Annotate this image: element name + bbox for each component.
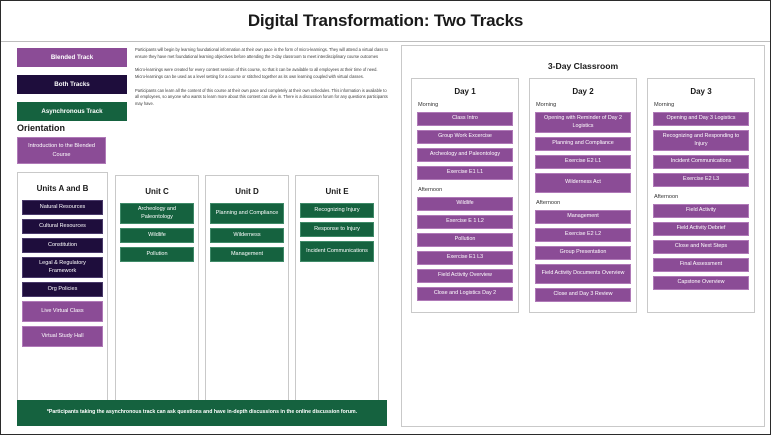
day-3-morning-items: Opening and Day 3 Logistics Recognizing … bbox=[648, 112, 754, 187]
unit-card-unit-e: Unit E Recognizing Injury Response to In… bbox=[295, 175, 379, 422]
unit-item[interactable]: Cultural Resources bbox=[22, 219, 103, 234]
day-2-morning-items: Opening with Reminder of Day 2 Logistics… bbox=[530, 112, 636, 193]
unit-item[interactable]: Recognizing Injury bbox=[300, 203, 374, 218]
session-item[interactable]: Wilderness Act bbox=[535, 173, 631, 193]
legend-chip-blended-track: Blended Track bbox=[17, 48, 127, 67]
orientation-heading: Orientation bbox=[17, 123, 65, 133]
legend-chip-asynchronous-track: Asynchronous Track bbox=[17, 102, 127, 121]
unit-item[interactable]: Constitution bbox=[22, 238, 103, 253]
session-item[interactable]: Recognizing and Responding to Injury bbox=[653, 130, 749, 151]
session-item[interactable]: Exercise E2 L2 bbox=[535, 228, 631, 242]
session-item[interactable]: Field Activity bbox=[653, 204, 749, 218]
unit-items: Recognizing Injury Response to Injury In… bbox=[296, 203, 378, 262]
unit-items: Natural Resources Cultural Resources Con… bbox=[18, 200, 107, 347]
unit-item[interactable]: Incident Communications bbox=[300, 241, 374, 262]
unit-item[interactable]: Response to Injury bbox=[300, 222, 374, 237]
unit-item[interactable]: Live Virtual Class bbox=[22, 301, 103, 322]
day-card-day-3: Day 3 Morning Opening and Day 3 Logistic… bbox=[647, 78, 755, 313]
unit-item[interactable]: Pollution bbox=[120, 247, 194, 262]
session-item[interactable]: Exercise E 1 L2 bbox=[417, 215, 513, 229]
day-title: Day 2 bbox=[530, 87, 636, 96]
session-label-morning: Morning bbox=[654, 102, 754, 108]
unit-item[interactable]: Virtual Study Hall bbox=[22, 326, 103, 347]
session-item[interactable]: Archeology and Paleontology bbox=[417, 148, 513, 162]
session-item[interactable]: Capstone Overview bbox=[653, 276, 749, 290]
classroom-heading: 3-Day Classroom bbox=[402, 61, 764, 71]
day-title: Day 3 bbox=[648, 87, 754, 96]
session-item[interactable]: Exercise E1 L3 bbox=[417, 251, 513, 265]
session-item[interactable]: Group Presentation bbox=[535, 246, 631, 260]
unit-item[interactable]: Wilderness bbox=[210, 228, 284, 243]
session-item[interactable]: Field Activity Debrief bbox=[653, 222, 749, 236]
session-item[interactable]: Close and Day 3 Review bbox=[535, 288, 631, 302]
title-bar: Digital Transformation: Two Tracks bbox=[1, 1, 770, 42]
session-label-afternoon: Afternoon bbox=[536, 200, 636, 206]
three-day-classroom-pane: 3-Day Classroom Day 1 Morning Class Intr… bbox=[401, 45, 765, 427]
orientation-item-introduction[interactable]: Introduction to the Blended Course bbox=[17, 137, 106, 164]
self-paced-pane: Blended Track Both Tracks Asynchronous T… bbox=[9, 45, 393, 427]
session-label-morning: Morning bbox=[536, 102, 636, 108]
days-row: Day 1 Morning Class Intro Group Work Exc… bbox=[402, 71, 764, 313]
day-card-day-2: Day 2 Morning Opening with Reminder of D… bbox=[529, 78, 637, 313]
unit-item[interactable]: Management bbox=[210, 247, 284, 262]
track-legend-notes: Participants will begin by learning foun… bbox=[135, 47, 389, 114]
session-item[interactable]: Planning and Compliance bbox=[535, 137, 631, 151]
session-item[interactable]: Field Activity Overview bbox=[417, 269, 513, 283]
legend-note-async: Participants can learn all the content o… bbox=[135, 88, 389, 108]
day-card-day-1: Day 1 Morning Class Intro Group Work Exc… bbox=[411, 78, 519, 313]
session-item[interactable]: Exercise E2 L3 bbox=[653, 173, 749, 187]
session-item[interactable]: Field Activity Documents Overview bbox=[535, 264, 631, 284]
session-item[interactable]: Class Intro bbox=[417, 112, 513, 126]
session-item[interactable]: Opening and Day 3 Logistics bbox=[653, 112, 749, 126]
day-3-afternoon-items: Field Activity Field Activity Debrief Cl… bbox=[648, 204, 754, 290]
session-item[interactable]: Close and Next Steps bbox=[653, 240, 749, 254]
session-item[interactable]: Wildlife bbox=[417, 197, 513, 211]
session-item[interactable]: Close and Logistics Day 2 bbox=[417, 287, 513, 301]
unit-item[interactable]: Archeology and Paleontology bbox=[120, 203, 194, 224]
unit-title: Unit E bbox=[296, 187, 378, 196]
session-item[interactable]: Incident Communications bbox=[653, 155, 749, 169]
footer-note: *Participants taking the asynchronous tr… bbox=[17, 400, 387, 426]
unit-title: Unit D bbox=[206, 187, 288, 196]
session-label-morning: Morning bbox=[418, 102, 518, 108]
legend-chip-both-tracks: Both Tracks bbox=[17, 75, 127, 94]
session-label-afternoon: Afternoon bbox=[418, 187, 518, 193]
page-title: Digital Transformation: Two Tracks bbox=[248, 11, 523, 31]
day-1-afternoon-items: Wildlife Exercise E 1 L2 Pollution Exerc… bbox=[412, 197, 518, 301]
day-title: Day 1 bbox=[412, 87, 518, 96]
unit-item[interactable]: Natural Resources bbox=[22, 200, 103, 215]
legend-note-both: Micro-learnings were created for every c… bbox=[135, 67, 389, 80]
unit-item[interactable]: Planning and Compliance bbox=[210, 203, 284, 224]
unit-card-unit-c: Unit C Archeology and Paleontology Wildl… bbox=[115, 175, 199, 422]
session-item[interactable]: Final Assessment bbox=[653, 258, 749, 272]
session-item[interactable]: Group Work Excercise bbox=[417, 130, 513, 144]
session-item[interactable]: Pollution bbox=[417, 233, 513, 247]
unit-item[interactable]: Wildlife bbox=[120, 228, 194, 243]
legend-note-blended: Participants will begin by learning foun… bbox=[135, 47, 389, 60]
day-1-morning-items: Class Intro Group Work Excercise Archeol… bbox=[412, 112, 518, 180]
unit-title: Unit C bbox=[116, 187, 198, 196]
unit-card-units-a-and-b: Units A and B Natural Resources Cultural… bbox=[17, 172, 108, 422]
unit-item[interactable]: Org Policies bbox=[22, 282, 103, 297]
day-2-afternoon-items: Management Exercise E2 L2 Group Presenta… bbox=[530, 210, 636, 302]
unit-items: Planning and Compliance Wilderness Manag… bbox=[206, 203, 288, 262]
session-item[interactable]: Exercise E1 L1 bbox=[417, 166, 513, 180]
unit-title: Units A and B bbox=[18, 184, 107, 193]
session-label-afternoon: Afternoon bbox=[654, 194, 754, 200]
unit-item[interactable]: Legal & Regulatory Framework bbox=[22, 257, 103, 278]
slide-canvas: Digital Transformation: Two Tracks Blend… bbox=[0, 0, 771, 435]
session-item[interactable]: Opening with Reminder of Day 2 Logistics bbox=[535, 112, 631, 133]
session-item[interactable]: Exercise E2 L1 bbox=[535, 155, 631, 169]
unit-card-unit-d: Unit D Planning and Compliance Wildernes… bbox=[205, 175, 289, 422]
track-legend: Blended Track Both Tracks Asynchronous T… bbox=[17, 48, 127, 129]
session-item[interactable]: Management bbox=[535, 210, 631, 224]
unit-items: Archeology and Paleontology Wildlife Pol… bbox=[116, 203, 198, 262]
